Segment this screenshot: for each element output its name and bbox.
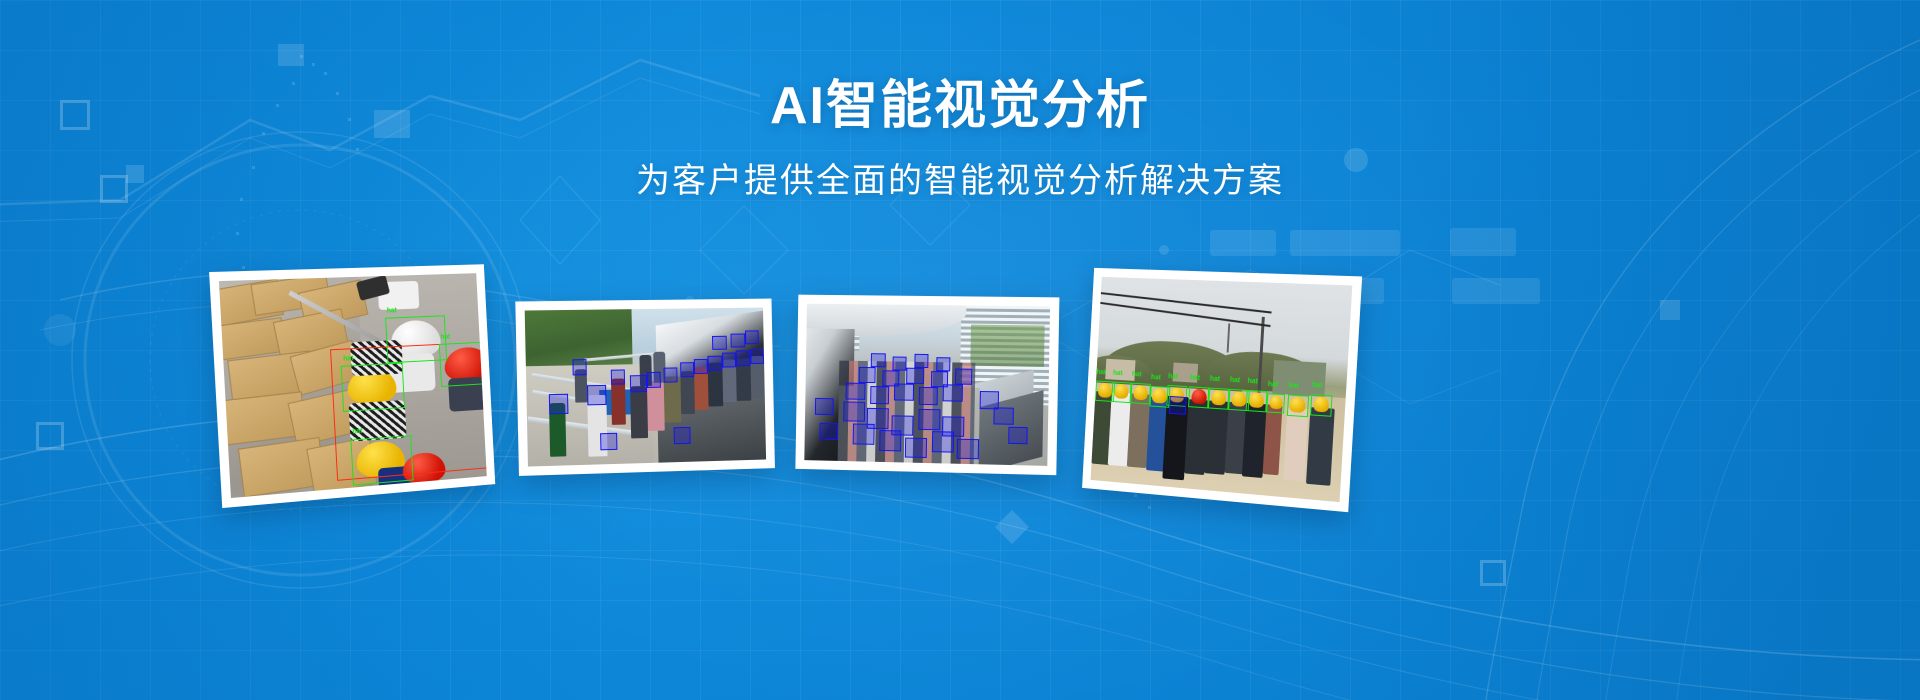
detection-label-hat: hat (343, 355, 354, 364)
detection-box-hat (1246, 390, 1268, 413)
detection-box-face (712, 335, 726, 349)
detection-box-face (745, 330, 759, 344)
detection-box-hat (439, 342, 487, 388)
detection-label-hat: hat (1288, 382, 1299, 391)
hero-banner: AI智能视觉分析 为客户提供全面的智能视觉分析解决方案 (0, 0, 1920, 700)
detection-box-hat (1188, 386, 1209, 408)
detection-box-face (663, 367, 678, 383)
scene-metro-platform (804, 304, 1050, 466)
detection-box-face (750, 349, 764, 364)
detection-box-hat (385, 315, 447, 363)
page-title: AI智能视觉分析 (0, 78, 1920, 135)
hero-text-block: AI智能视觉分析 为客户提供全面的智能视觉分析解决方案 (0, 78, 1920, 202)
detection-label-hat: hat (1096, 368, 1106, 376)
detection-box-face (1168, 396, 1186, 416)
page-subtitle: 为客户提供全面的智能视觉分析解决方案 (0, 161, 1920, 202)
detection-box-face (647, 372, 662, 388)
gallery-photo-worksite[interactable]: hat hat hat hat hat hat hat hat (1082, 268, 1362, 512)
detection-label-hat: hat (1247, 377, 1258, 386)
detection-box-face (587, 385, 607, 406)
detection-box-face (572, 359, 587, 375)
detection-label-hat: hat (440, 334, 450, 342)
detection-label-hat: hat (1312, 381, 1323, 390)
detection-box-hat (1208, 388, 1229, 410)
scene-worksite-group: hat hat hat hat hat hat hat hat (1091, 277, 1353, 502)
gallery-photo-station[interactable] (795, 295, 1059, 476)
detection-box-hat (1130, 383, 1150, 405)
detection-box-hat (1287, 395, 1309, 418)
detection-label-hat: hat (1210, 375, 1221, 384)
scene-warehouse-overhead: hat hat hat hat (219, 273, 487, 498)
detection-box-face (736, 350, 750, 365)
detection-box-face (674, 426, 691, 443)
detection-box-face (708, 355, 722, 371)
detection-label-hat: hat (1151, 374, 1161, 382)
detection-box-hat (1310, 394, 1332, 417)
detection-box-hat (350, 435, 413, 486)
detection-box-face (548, 394, 568, 415)
detection-label-hat: hat (1168, 373, 1178, 381)
detection-label-hat: hat (352, 428, 363, 437)
detection-label-hat: hat (1268, 381, 1279, 390)
detection-label-hat: hat (1230, 376, 1241, 385)
detection-label-hat: hat (387, 307, 397, 315)
detection-box-face (630, 375, 647, 392)
detection-label-hat: hat (1190, 374, 1200, 383)
scene-pedestrian-bridge (525, 308, 766, 467)
detection-box-face (694, 359, 708, 375)
detection-label-hat: hat (1132, 370, 1142, 378)
detection-box-hat (1266, 393, 1285, 413)
detection-label-hat: hat (1113, 369, 1123, 377)
detection-box-face (722, 352, 736, 368)
gallery-photo-warehouse[interactable]: hat hat hat hat (209, 264, 495, 508)
detection-box-face (611, 369, 626, 385)
detection-box-hat (341, 363, 404, 413)
detection-box-face (600, 433, 617, 450)
detection-box-face (731, 334, 745, 348)
gallery-photo-footbridge[interactable] (515, 299, 775, 476)
detection-box-face (680, 362, 694, 378)
detection-box-hat (1111, 382, 1131, 404)
